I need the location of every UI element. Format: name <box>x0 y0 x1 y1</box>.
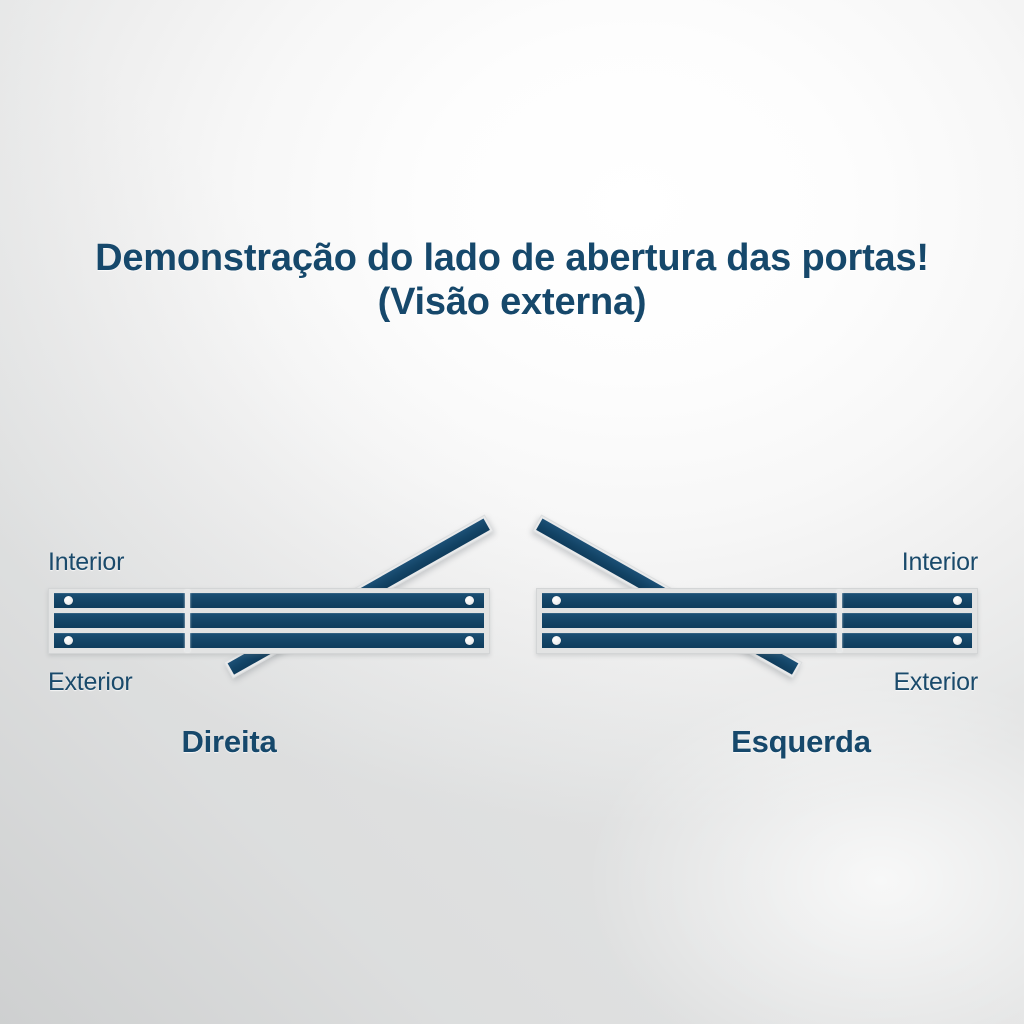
diagram-left-hand-door: Interior Exterior Esquerda <box>522 420 992 780</box>
hinge-dot-bottom-right <box>953 636 962 645</box>
page-fold-crease <box>806 0 1024 188</box>
frame-bar-top <box>54 593 484 608</box>
label-interior-right-diagram: Interior <box>902 548 978 577</box>
door-frame-right-diagram <box>536 588 978 654</box>
frame-bar-top <box>542 593 972 608</box>
door-frame-left-diagram <box>48 588 490 654</box>
page-title: Demonstração do lado de abertura das por… <box>0 236 1024 324</box>
page-fold-corner-icon <box>796 0 1024 188</box>
frame-bars <box>54 593 484 649</box>
hinge-dot-bottom-right <box>465 636 474 645</box>
frame-seam-line <box>185 590 190 652</box>
title-line-2: (Visão externa) <box>0 280 1024 324</box>
hinge-dot-top-right <box>953 596 962 605</box>
label-interior-left-diagram: Interior <box>48 548 124 577</box>
frame-bar-bottom <box>54 633 484 648</box>
frame-bar-middle <box>54 613 484 628</box>
diagram-right-hand-door: Interior Exterior Direita <box>34 420 504 780</box>
hinge-dot-bottom-left <box>552 636 561 645</box>
label-exterior-right-diagram: Exterior <box>893 668 978 697</box>
illustration-canvas: Demonstração do lado de abertura das por… <box>0 0 1024 1024</box>
hinge-dot-top-left <box>64 596 73 605</box>
caption-right-hand-door: Direita <box>0 724 464 760</box>
frame-bar-bottom <box>542 633 972 648</box>
frame-bars <box>542 593 972 649</box>
frame-seam-line <box>837 590 842 652</box>
hinge-dot-top-right <box>465 596 474 605</box>
title-line-1: Demonstração do lado de abertura das por… <box>95 237 929 279</box>
hinge-dot-bottom-left <box>64 636 73 645</box>
caption-left-hand-door: Esquerda <box>566 724 1024 760</box>
hinge-dot-top-left <box>552 596 561 605</box>
label-exterior-left-diagram: Exterior <box>48 668 133 697</box>
frame-bar-middle <box>542 613 972 628</box>
